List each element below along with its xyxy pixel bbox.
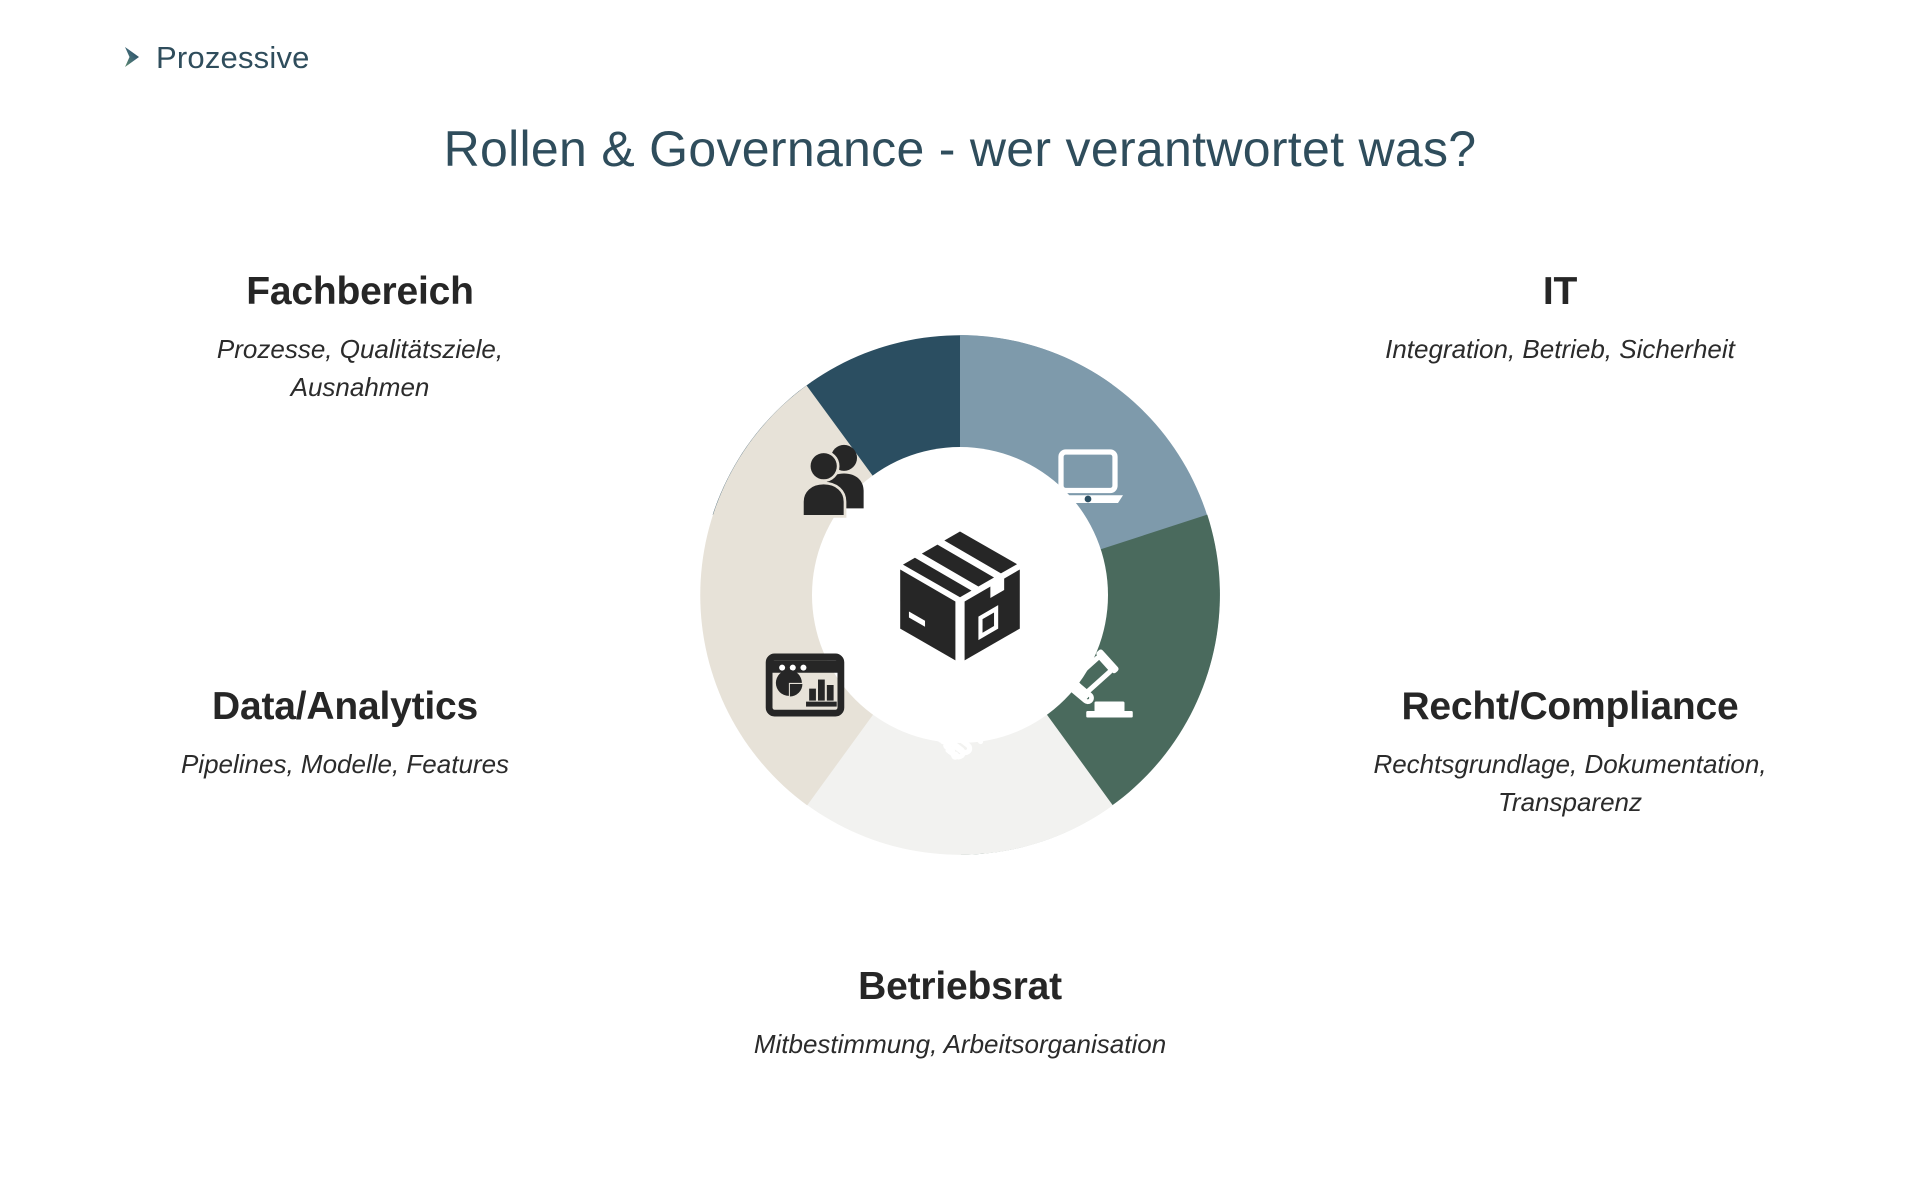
- brand-logo: Prozessive: [116, 40, 310, 74]
- role-title-recht-compliance: Recht/Compliance: [1330, 685, 1810, 730]
- role-desc-it: Integration, Betrieb, Sicherheit: [1350, 331, 1770, 369]
- chevron-right-icon: [116, 40, 150, 74]
- role-label-data-analytics: Data/Analytics Pipelines, Modelle, Featu…: [120, 685, 570, 784]
- page-title: Rollen & Governance - wer verantwortet w…: [0, 120, 1920, 178]
- role-title-it: IT: [1350, 270, 1770, 315]
- role-desc-data-analytics: Pipelines, Modelle, Features: [120, 746, 570, 784]
- role-label-betriebsrat: Betriebsrat Mitbestimmung, Arbeitsorgani…: [700, 965, 1220, 1064]
- role-desc-betriebsrat: Mitbestimmung, Arbeitsorganisation: [700, 1026, 1220, 1064]
- role-label-it: IT Integration, Betrieb, Sicherheit: [1350, 270, 1770, 369]
- role-label-fachbereich: Fachbereich Prozesse, Qualitätsziele, Au…: [150, 270, 570, 406]
- roles-donut-chart: [630, 265, 1290, 925]
- role-title-fachbereich: Fachbereich: [150, 270, 570, 315]
- role-desc-fachbereich: Prozesse, Qualitätsziele, Ausnahmen: [150, 331, 570, 406]
- brand-name: Prozessive: [156, 42, 310, 73]
- role-label-recht-compliance: Recht/Compliance Rechtsgrundlage, Dokume…: [1330, 685, 1810, 821]
- role-desc-recht-compliance: Rechtsgrundlage, Dokumentation, Transpar…: [1330, 746, 1810, 821]
- role-title-data-analytics: Data/Analytics: [120, 685, 570, 730]
- role-title-betriebsrat: Betriebsrat: [700, 965, 1220, 1010]
